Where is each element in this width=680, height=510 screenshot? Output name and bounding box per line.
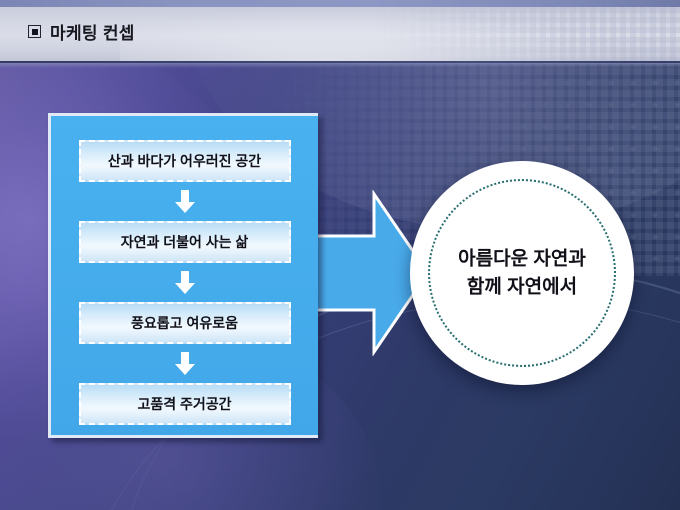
down-arrow-icon <box>174 190 196 214</box>
down-arrow-icon <box>174 271 196 295</box>
flow-step-box[interactable]: 산과 바다가 어우러진 공간 <box>79 140 291 182</box>
flow-step-label: 산과 바다가 어우러진 공간 <box>108 151 261 171</box>
flow-step-box[interactable]: 자연과 더불어 사는 삶 <box>79 221 291 263</box>
flow-step-box[interactable]: 풍요롭고 여유로움 <box>79 302 291 344</box>
header-underglow <box>0 63 680 68</box>
flow-panel: 산과 바다가 어우러진 공간 자연과 더불어 사는 삶 풍요롭고 여유로움 고품… <box>48 113 318 438</box>
down-arrow-icon <box>174 352 196 376</box>
filled-square-bullet-icon <box>28 25 41 38</box>
flow-step-label: 자연과 더불어 사는 삶 <box>121 232 249 252</box>
header-top-strip <box>0 0 680 7</box>
page-title: 마케팅 컨셉 <box>50 19 135 44</box>
flow-step-box[interactable]: 고품격 주거공간 <box>79 383 291 425</box>
page-title-row: 마케팅 컨셉 <box>28 19 135 44</box>
header-band-sheen <box>120 7 640 61</box>
result-circle: 아름다운 자연과 함께 자연에서 <box>410 161 634 385</box>
flow-step-label: 풍요롭고 여유로움 <box>131 313 238 333</box>
flow-step-label: 고품격 주거공간 <box>137 394 231 414</box>
slide-header: 마케팅 컨셉 <box>0 0 680 68</box>
slide-canvas: 마케팅 컨셉 산과 바다가 어우러진 공간 자연과 더불어 사는 삶 풍요롭고 … <box>0 0 680 510</box>
result-circle-text: 아름다운 자연과 함께 자연에서 <box>410 245 634 300</box>
result-circle-line-2: 함께 자연에서 <box>410 273 634 301</box>
result-circle-line-1: 아름다운 자연과 <box>410 245 634 273</box>
